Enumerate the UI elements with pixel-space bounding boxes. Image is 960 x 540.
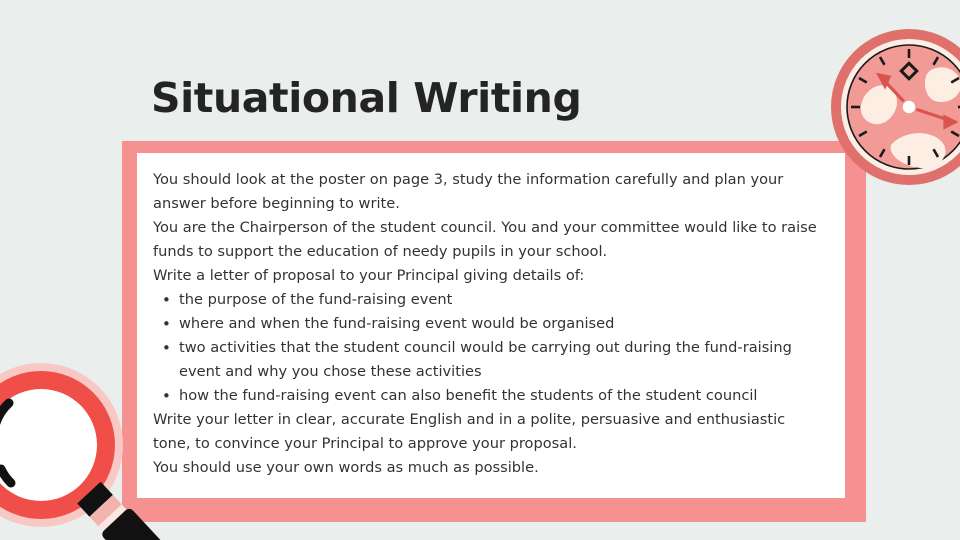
instruction-paragraph-5: You should use your own words as much as… [153, 456, 825, 480]
instruction-paragraph-2: You are the Chairperson of the student c… [153, 216, 825, 264]
content-body: You should look at the poster on page 3,… [153, 168, 825, 483]
instruction-paragraph-4: Write your letter in clear, accurate Eng… [153, 408, 825, 456]
list-item: where and when the fund-raising event wo… [153, 312, 825, 336]
clock-svg [829, 27, 960, 187]
list-item: two activities that the student council … [153, 336, 825, 384]
instruction-paragraph-3: Write a letter of proposal to your Princ… [153, 264, 825, 288]
list-item: the purpose of the fund-raising event [153, 288, 825, 312]
list-item: how the fund-raising event can also bene… [153, 384, 825, 408]
instruction-paragraph-1: You should look at the poster on page 3,… [153, 168, 825, 216]
magnifier-svg [0, 352, 178, 540]
slide: Situational Writing You should look at t… [0, 0, 960, 540]
requirements-list: the purpose of the fund-raising event wh… [153, 288, 825, 408]
clock-icon [829, 27, 960, 187]
magnifying-glass-icon [0, 352, 178, 540]
page-title: Situational Writing [151, 75, 581, 122]
